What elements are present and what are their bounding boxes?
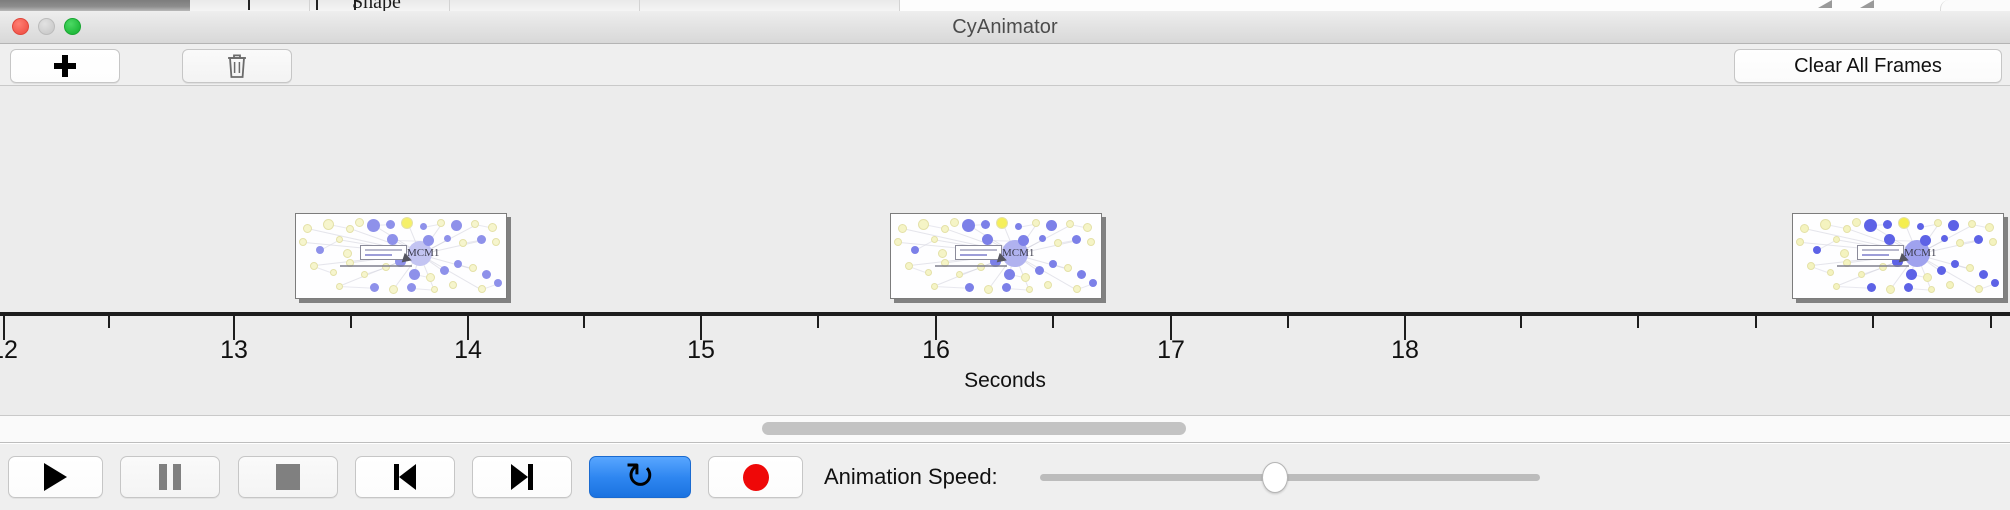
graph-node: [426, 273, 435, 282]
graph-node: [444, 235, 451, 242]
pause-button[interactable]: [120, 456, 220, 498]
playback-control-bar: ↻ Animation Speed:: [0, 444, 2010, 510]
graph-node: [938, 249, 947, 258]
graph-node: [1975, 285, 1983, 293]
graph-annotation: [1837, 265, 1909, 267]
clear-all-frames-button[interactable]: Clear All Frames: [1734, 49, 2002, 83]
toolbar: Clear All Frames: [0, 44, 2010, 86]
plus-icon: [54, 55, 76, 77]
graph-node: [1066, 220, 1074, 228]
graph-node: [905, 262, 913, 270]
graph-node: [1934, 219, 1942, 227]
graph-node: [1089, 279, 1097, 287]
graph-tooltip: [955, 245, 1002, 260]
graph-node: [1883, 220, 1892, 229]
graph-node: [918, 219, 929, 230]
graph-node: [409, 269, 420, 280]
graph-node: [1928, 286, 1935, 293]
graph-node: [1026, 286, 1033, 293]
frame-canvas: MCM1: [891, 214, 1101, 298]
axis-tick-minor: [583, 316, 585, 328]
frame-canvas: MCM1: [1793, 214, 2003, 298]
graph-node: [492, 238, 500, 246]
timeline-scrollbar-thumb[interactable]: [762, 422, 1186, 435]
graph-node: [1087, 238, 1095, 246]
background-tick-1: [248, 0, 250, 10]
graph-node: [303, 224, 312, 233]
graph-node: [389, 285, 398, 294]
play-button[interactable]: [8, 456, 103, 498]
frame-thumbnail-1[interactable]: MCM1: [295, 213, 507, 299]
graph-node: [1989, 238, 1997, 246]
background-window-label: Shape: [352, 0, 401, 11]
graph-node: [1948, 220, 1959, 231]
slider-track[interactable]: [1040, 474, 1540, 481]
graph-node: [367, 219, 380, 232]
graph-node: [1083, 223, 1092, 232]
graph-node: [370, 283, 379, 292]
graph-node: [1906, 269, 1917, 280]
graph-node: [1004, 269, 1015, 280]
graph-node: [449, 281, 457, 289]
axis-tick-minor: [817, 316, 819, 328]
axis-tick-label: 18: [1391, 336, 1419, 365]
background-window-corner: [1940, 0, 2010, 11]
graph-node: [1018, 235, 1029, 246]
skip-next-icon: [511, 464, 533, 490]
graph-node: [941, 225, 949, 233]
graph-node: [386, 220, 395, 229]
background-arrow-1: [1818, 0, 1832, 8]
graph-node: [1917, 223, 1924, 230]
graph-node: [1966, 264, 1974, 272]
graph-node: [898, 224, 907, 233]
graph-node: [1923, 273, 1932, 282]
record-button[interactable]: [708, 456, 803, 498]
graph-node: [1800, 224, 1809, 233]
graph-node: [336, 283, 343, 290]
graph-node: [355, 218, 364, 227]
graph-node: [1813, 246, 1821, 254]
graph-node: [1920, 235, 1931, 246]
graph-node: [346, 225, 354, 233]
background-cell-4: [640, 0, 900, 11]
timeline-panel[interactable]: MCM1MCM1MCM1 12131415161718 Seconds: [0, 86, 2010, 416]
graph-node: [1044, 281, 1052, 289]
window-title: CyAnimator: [0, 11, 2010, 44]
stop-button[interactable]: [238, 456, 338, 498]
graph-node: [1864, 219, 1877, 232]
loop-icon: ↻: [625, 462, 655, 492]
graph-node: [431, 286, 438, 293]
graph-node: [454, 260, 462, 268]
graph-node: [1843, 225, 1851, 233]
add-frame-button[interactable]: [10, 49, 120, 83]
delete-frame-button[interactable]: [182, 49, 292, 83]
graph-node: [423, 235, 434, 246]
background-arrow-2: [1860, 0, 1874, 8]
timeline-scrollbar[interactable]: [0, 416, 2010, 443]
graph-node: [1951, 260, 1959, 268]
graph-node: [1946, 281, 1954, 289]
graph-node: [1858, 271, 1865, 278]
axis-tick-minor: [1287, 316, 1289, 328]
graph-node: [1833, 236, 1840, 243]
skip-previous-icon: [394, 464, 416, 490]
axis-tick-minor: [108, 316, 110, 328]
trash-icon: [226, 53, 248, 79]
graph-node: [911, 246, 919, 254]
graph-node: [471, 220, 479, 228]
frame-thumbnail-2[interactable]: MCM1: [890, 213, 1102, 299]
graph-tooltip: [1857, 245, 1904, 260]
graph-node: [1898, 217, 1910, 229]
background-cell-3: [450, 0, 640, 11]
graph-node: [1049, 260, 1057, 268]
loop-button[interactable]: ↻: [589, 456, 691, 498]
graph-node: [1867, 283, 1876, 292]
axis-tick-minor: [1637, 316, 1639, 328]
graph-node: [1073, 285, 1081, 293]
graph-annotation: [340, 265, 412, 267]
axis-tick-label: 17: [1157, 336, 1185, 365]
graph-node: [1985, 223, 1994, 232]
graph-node: [1077, 270, 1086, 279]
graph-node: [984, 285, 993, 294]
graph-node: [1840, 249, 1849, 258]
graph-node: [965, 283, 974, 292]
record-icon: [743, 464, 769, 491]
graph-node: [482, 270, 491, 279]
graph-node: [981, 220, 990, 229]
slider-thumb[interactable]: [1262, 462, 1288, 493]
graph-node: [323, 219, 334, 230]
graph-annotation: [935, 265, 1007, 267]
graph-node: [1002, 283, 1011, 292]
graph-node: [477, 235, 486, 244]
axis-tick-minor: [1052, 316, 1054, 328]
graph-node: [330, 269, 337, 276]
animation-speed-label: Animation Speed:: [824, 456, 998, 498]
graph-node: [1968, 220, 1976, 228]
graph-node: [931, 283, 938, 290]
graph-node: [1827, 269, 1834, 276]
graph-node: [459, 239, 467, 247]
axis-title: Seconds: [0, 369, 2010, 393]
graph-node: [401, 217, 413, 229]
graph-node: [437, 219, 445, 227]
graph-node: [1072, 235, 1081, 244]
graph-node: [343, 249, 352, 258]
stop-icon: [276, 464, 300, 490]
graph-node: [894, 238, 902, 246]
graph-node: [407, 283, 416, 292]
axis-tick-minor: [350, 316, 352, 328]
graph-node: [299, 238, 307, 246]
graph-node: [488, 223, 497, 232]
graph-node: [956, 271, 963, 278]
next-frame-button[interactable]: [472, 456, 572, 498]
graph-node: [1852, 218, 1861, 227]
graph-node: [1021, 273, 1030, 282]
frame-thumbnail-3[interactable]: MCM1: [1792, 213, 2004, 299]
title-bar[interactable]: CyAnimator: [0, 11, 2010, 44]
axis-tick-label: 12: [0, 336, 18, 365]
graph-node: [1046, 220, 1057, 231]
graph-node: [1054, 239, 1062, 247]
timeline-axis: [0, 312, 2010, 316]
graph-node: [1064, 264, 1072, 272]
graph-node: [361, 271, 368, 278]
graph-node: [310, 262, 318, 270]
graph-node: [1820, 219, 1831, 230]
graph-node: [1796, 238, 1804, 246]
background-tick-2: [316, 0, 318, 10]
graph-node: [1032, 219, 1040, 227]
graph-node: [1956, 239, 1964, 247]
background-toolbar-fragment: [0, 0, 190, 11]
axis-tick-minor: [1872, 316, 1874, 328]
graph-node: [1979, 270, 1988, 279]
cyanimator-window: Shape CyAnimator Clear All Frames: [0, 0, 2010, 510]
graph-node: [1886, 285, 1895, 294]
graph-node: [451, 220, 462, 231]
background-cell-1: [190, 0, 310, 11]
axis-tick-minor: [1755, 316, 1757, 328]
graph-node: [1937, 266, 1946, 275]
graph-node: [925, 269, 932, 276]
graph-node: [1833, 283, 1840, 290]
frame-canvas: MCM1: [296, 214, 506, 298]
graph-node: [1974, 235, 1983, 244]
axis-tick-label: 16: [922, 336, 950, 365]
axis-tick-minor: [1990, 316, 1992, 328]
axis-tick-minor: [1520, 316, 1522, 328]
graph-node: [1015, 223, 1022, 230]
graph-node: [1039, 235, 1046, 242]
graph-node: [440, 266, 449, 275]
graph-node: [469, 264, 477, 272]
graph-tooltip: [360, 245, 407, 260]
graph-node: [1807, 262, 1815, 270]
graph-node: [336, 236, 343, 243]
graph-node: [1991, 279, 1999, 287]
previous-frame-button[interactable]: [355, 456, 455, 498]
animation-speed-slider[interactable]: [1040, 456, 1540, 498]
pause-icon: [159, 464, 181, 490]
graph-node: [478, 285, 486, 293]
axis-tick-label: 15: [687, 336, 715, 365]
graph-node: [996, 217, 1008, 229]
graph-node: [316, 246, 324, 254]
graph-node: [962, 219, 975, 232]
axis-tick-label: 13: [220, 336, 248, 365]
graph-node: [950, 218, 959, 227]
graph-node: [1904, 283, 1913, 292]
graph-node: [420, 223, 427, 230]
graph-node: [494, 279, 502, 287]
graph-node: [1941, 235, 1948, 242]
play-icon: [44, 463, 67, 491]
graph-node: [931, 236, 938, 243]
background-window-fragment: Shape: [0, 0, 2010, 11]
graph-node: [1035, 266, 1044, 275]
axis-tick-label: 14: [454, 336, 482, 365]
